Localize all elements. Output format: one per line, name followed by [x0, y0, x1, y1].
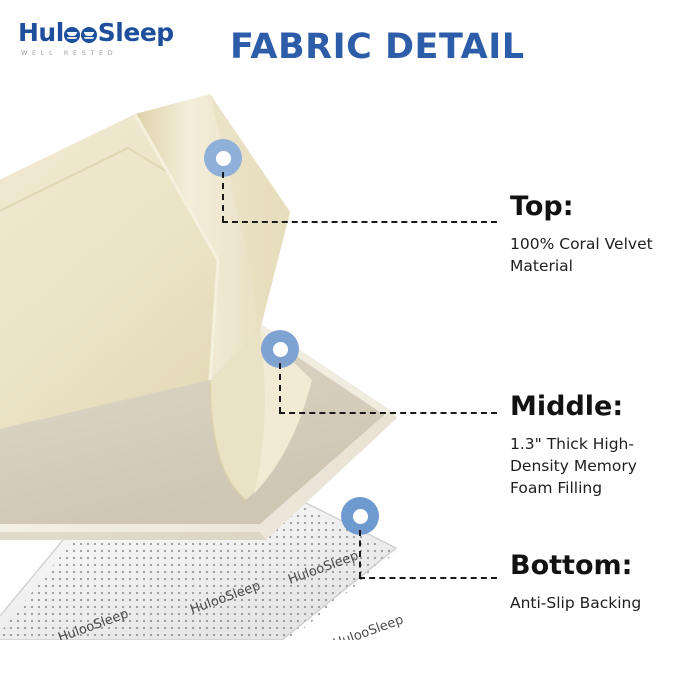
marker-bottom-center	[353, 509, 368, 524]
callout-top: Top: 100% Coral Velvet Material	[510, 192, 672, 277]
watermark-text: HulooSleep	[331, 612, 405, 640]
callout-middle-heading: Middle:	[510, 392, 672, 422]
leader-line-bottom-vertical	[359, 530, 361, 578]
brand-name-part1: Hul	[18, 20, 64, 45]
leader-line-middle-horizontal	[279, 412, 497, 414]
brand-logo: Hul Sleep WELL RESTED	[18, 20, 168, 62]
callout-bottom: Bottom: Anti-Slip Backing	[510, 551, 672, 614]
leader-line-top-vertical	[222, 172, 224, 222]
callout-top-heading: Top:	[510, 192, 672, 222]
sleeping-eye-left-icon	[64, 27, 80, 43]
callout-middle-body: 1.3" Thick High-Density Memory Foam Fill…	[510, 433, 672, 499]
brand-name-part2: Sleep	[98, 20, 174, 45]
callout-top-body: 100% Coral Velvet Material	[510, 233, 672, 277]
brand-tagline: WELL RESTED	[18, 49, 168, 57]
fabric-detail-infographic: Hul Sleep WELL RESTED FABRIC DETAIL	[0, 0, 679, 679]
callout-bottom-body: Anti-Slip Backing	[510, 592, 672, 614]
leader-line-bottom-horizontal	[359, 577, 497, 579]
marker-top-center	[216, 151, 231, 166]
callout-middle: Middle: 1.3" Thick High-Density Memory F…	[510, 392, 672, 499]
sleeping-eyes-icon	[64, 25, 98, 45]
marker-middle-center	[273, 342, 288, 357]
leader-line-top-horizontal	[222, 221, 497, 223]
sleeping-eye-right-icon	[81, 27, 97, 43]
callout-bottom-heading: Bottom:	[510, 551, 672, 581]
page-title: FABRIC DETAIL	[230, 27, 525, 67]
brand-wordmark: Hul Sleep	[18, 20, 168, 45]
leader-line-middle-vertical	[279, 363, 281, 413]
